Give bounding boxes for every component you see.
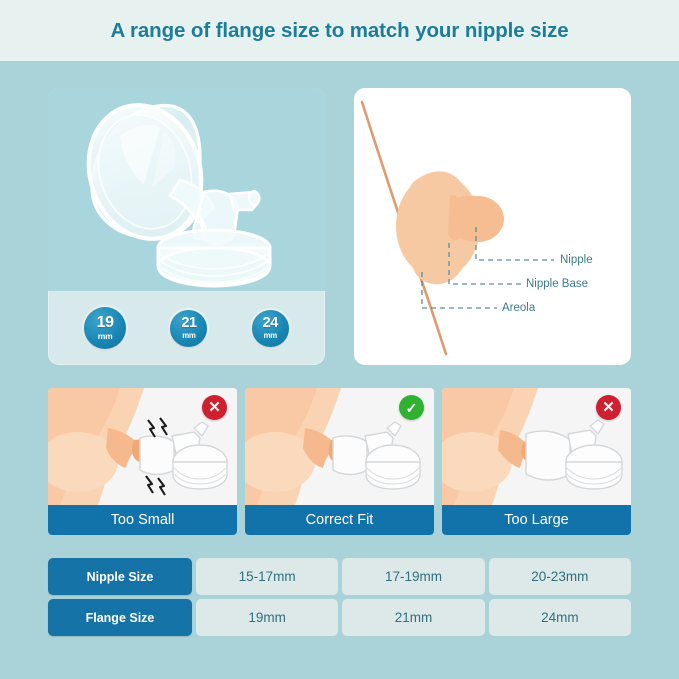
top-card-row: 19 mm 21 mm 24 mm: [48, 88, 631, 365]
fit-card-label-too-small: Too Small: [48, 505, 237, 535]
product-image-area: [48, 88, 325, 291]
breast-anatomy-diagram: [354, 88, 631, 365]
table-cell: 17-19mm: [342, 558, 484, 595]
table-row-flange-size: Flange Size 19mm 21mm 24mm: [48, 599, 631, 636]
table-row-header-nipple-size: Nipple Size: [48, 558, 192, 595]
anatomy-label-nipple: Nipple: [560, 254, 593, 266]
table-row-header-flange-size: Flange Size: [48, 599, 192, 636]
size-badge-number: 19: [97, 315, 114, 331]
page-title: A range of flange size to match your nip…: [110, 19, 568, 43]
size-badge-24[interactable]: 24 mm: [252, 310, 289, 347]
size-badge-unit: mm: [264, 332, 277, 340]
size-badge-unit: mm: [98, 332, 113, 341]
size-badge-number: 24: [263, 316, 278, 331]
fit-card-too-large[interactable]: ✕ Too Large: [442, 388, 631, 535]
size-badge-unit: mm: [182, 332, 195, 340]
size-badge-number: 21: [181, 316, 196, 331]
size-badge-19[interactable]: 19 mm: [84, 307, 126, 349]
cross-icon: ✕: [202, 395, 227, 420]
size-table: Nipple Size 15-17mm 17-19mm 20-23mm Flan…: [48, 558, 631, 636]
fit-comparison-row: ✕ Too Small: [48, 388, 631, 535]
anatomy-label-nipple-base: Nipple Base: [526, 278, 588, 290]
table-row-nipple-size: Nipple Size 15-17mm 17-19mm 20-23mm: [48, 558, 631, 595]
fit-card-correct-fit[interactable]: ✓ Correct Fit: [245, 388, 434, 535]
cross-icon: ✕: [596, 395, 621, 420]
table-cell: 21mm: [342, 599, 484, 636]
anatomy-card: Nipple Nipple Base Areola: [354, 88, 631, 365]
fit-card-too-small[interactable]: ✕ Too Small: [48, 388, 237, 535]
flange-illustration: [48, 88, 325, 291]
size-badge-21[interactable]: 21 mm: [170, 310, 207, 347]
status-glyph: ✓: [406, 401, 418, 415]
table-cell: 24mm: [489, 599, 631, 636]
table-cell: 19mm: [196, 599, 338, 636]
check-icon: ✓: [399, 395, 424, 420]
product-card: 19 mm 21 mm 24 mm: [48, 88, 325, 365]
size-badge-strip: 19 mm 21 mm 24 mm: [48, 291, 325, 365]
anatomy-label-areola: Areola: [502, 302, 535, 314]
table-cell: 15-17mm: [196, 558, 338, 595]
header-banner: A range of flange size to match your nip…: [0, 0, 679, 61]
status-glyph: ✕: [602, 400, 615, 415]
table-cell: 20-23mm: [489, 558, 631, 595]
fit-card-label-correct-fit: Correct Fit: [245, 505, 434, 535]
status-glyph: ✕: [208, 400, 221, 415]
infographic-page: A range of flange size to match your nip…: [0, 0, 679, 679]
fit-card-label-too-large: Too Large: [442, 505, 631, 535]
